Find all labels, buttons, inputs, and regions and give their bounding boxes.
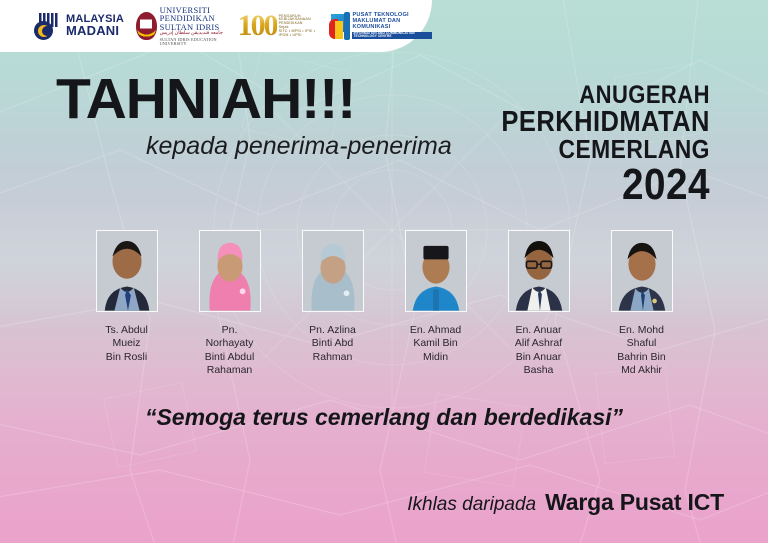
madani-emblem-icon <box>34 12 62 40</box>
recipient-name: En. Ahmad Kamil Bin Midin <box>405 324 467 364</box>
recipient-name: Pn. Azlina Binti Abd Rahman <box>302 324 364 364</box>
upsi-logo: UNIVERSITI PENDIDIKAN SULTAN IDRIS جامعه… <box>136 6 226 47</box>
footer-prefix: Ikhlas daripada <box>407 494 536 516</box>
recipient-card: Pn. Azlina Binti Abd Rahman <box>302 230 364 378</box>
recipient-card: Ts. Abdul Mueiz Bin Rosli <box>96 230 158 378</box>
upsi-subtitle: SULTAN IDRIS EDUCATION UNIVERSITY <box>160 38 226 46</box>
award-poster: MALAYSIA MADANI UNIVERSITI PENDIDIKAN SU… <box>0 0 768 543</box>
award-title-block: ANUGERAH PERKHIDMATAN CEMERLANG 2024 <box>473 84 710 205</box>
centenary-100-logo: 100 PENGARUH KEBIJAKSANAAN PENDIDIKAN Se… <box>238 11 318 41</box>
centenary-footer: SITC • MPSI • IPSI • IPGM • UPSI <box>279 30 318 38</box>
centenary-number: 100 <box>238 11 277 41</box>
recipient-card: En. Ahmad Kamil Bin Midin <box>405 230 467 378</box>
recipient-photo <box>508 230 570 312</box>
award-line2: PERKHIDMATAN <box>502 109 710 136</box>
recipient-name: Pn. Norhayaty Binti Abdul Rahaman <box>199 324 261 378</box>
recipient-name: En. Anuar Alif Ashraf Bin Anuar Basha <box>508 324 570 378</box>
award-line1: ANUGERAH <box>502 84 710 107</box>
recipient-photo <box>199 230 261 312</box>
recipient-photo <box>96 230 158 312</box>
upsi-crest-icon <box>136 12 157 40</box>
ptmk-line4: INFORMATION AND COMMUNICATION TECHNOLOGY… <box>352 32 432 39</box>
footer-org: Warga Pusat ICT <box>545 489 724 516</box>
upsi-line3: SULTAN IDRIS <box>160 23 226 32</box>
award-year: 2024 <box>502 165 710 205</box>
madani-line2: MADANI <box>66 25 124 38</box>
recipient-name: En. Mohd Shaful Bahrin Bin Md Akhir <box>611 324 673 378</box>
award-line3: CEMERLANG <box>502 138 710 162</box>
ptmk-logo: PUSAT TEKNOLOGI MAKLUMAT DAN KOMUNIKASI … <box>329 12 432 40</box>
ptmk-emblem-icon <box>329 12 349 40</box>
recipient-card: En. Anuar Alif Ashraf Bin Anuar Basha <box>508 230 570 378</box>
recipient-photo <box>405 230 467 312</box>
headline-sub: kepada penerima-penerima <box>146 132 452 161</box>
recipient-name: Ts. Abdul Mueiz Bin Rosli <box>96 324 158 364</box>
upsi-jawi: جامعه فنديديقن سلطان إدريس <box>160 31 226 36</box>
recipient-card: En. Mohd Shaful Bahrin Bin Md Akhir <box>611 230 673 378</box>
headline-block: TAHNIAH!!! kepada penerima-penerima <box>56 72 452 161</box>
header-logos: MALAYSIA MADANI UNIVERSITI PENDIDIKAN SU… <box>0 0 432 52</box>
recipient-card: Pn. Norhayaty Binti Abdul Rahaman <box>199 230 261 378</box>
recipient-photo <box>302 230 364 312</box>
headline-main: TAHNIAH!!! <box>56 72 452 126</box>
quote-text: “Semoga terus cemerlang dan berdedikasi” <box>0 404 768 431</box>
recipient-photo <box>611 230 673 312</box>
recipients-row: Ts. Abdul Mueiz Bin Rosli Pn. Norhayaty … <box>0 230 768 378</box>
malaysia-madani-logo: MALAYSIA MADANI <box>34 12 124 40</box>
footer-signature: Ikhlas daripada Warga Pusat ICT <box>407 489 724 516</box>
